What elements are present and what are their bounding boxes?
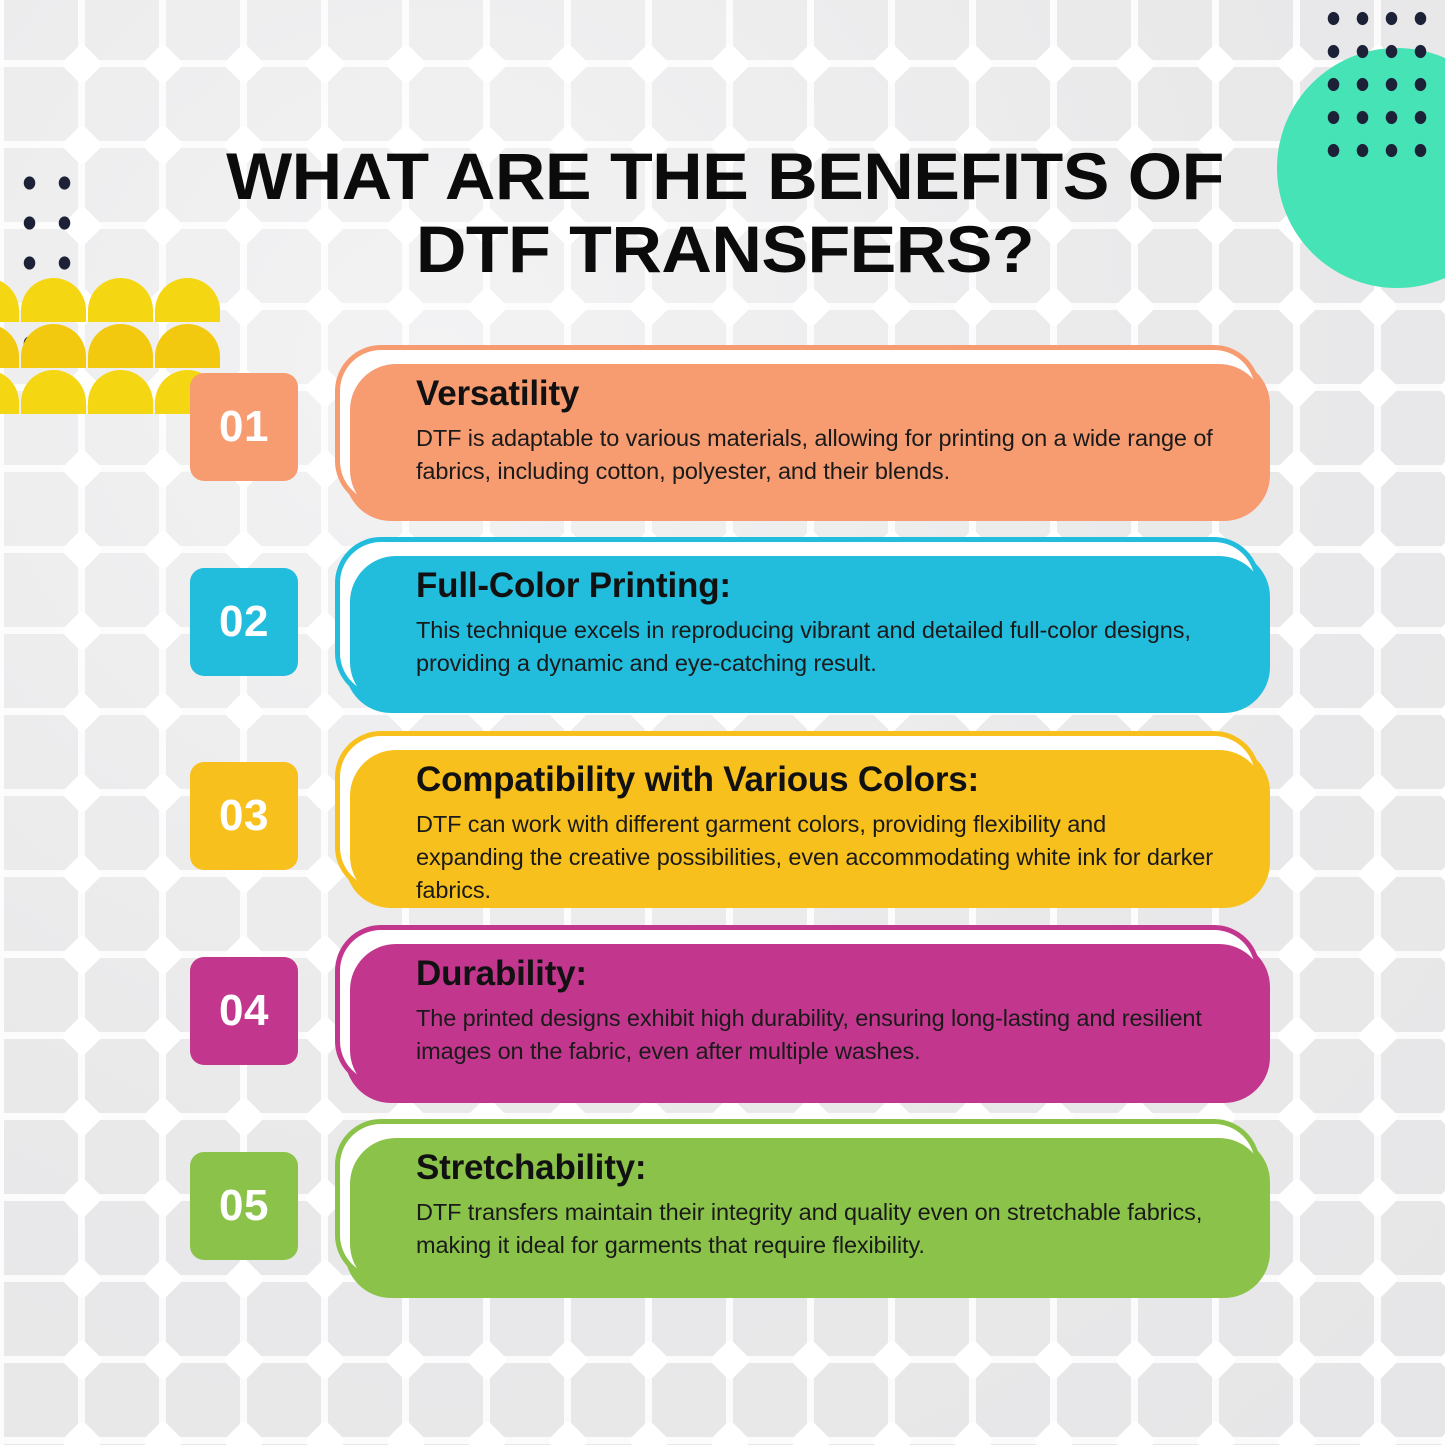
- grid-node-icon: [60, 1338, 102, 1380]
- grid-node-icon: [1437, 1338, 1445, 1380]
- grid-node-icon: [627, 42, 669, 84]
- benefit-row: 04Durability:The printed designs exhibit…: [0, 930, 1445, 1125]
- grid-node-icon: [1275, 1419, 1317, 1445]
- grid-node-icon: [384, 42, 426, 84]
- grid-node-icon: [708, 1419, 750, 1445]
- benefit-number: 02: [219, 597, 269, 647]
- grid-node-icon: [303, 285, 345, 327]
- benefit-heading: Versatility: [416, 372, 1215, 416]
- grid-node-icon: [627, 1338, 669, 1380]
- grid-node-icon: [870, 42, 912, 84]
- benefit-body: DTF is adaptable to various materials, a…: [416, 422, 1215, 488]
- grid-node-icon: [1113, 1338, 1155, 1380]
- grid-node-icon: [1032, 285, 1074, 327]
- grid-node-icon: [222, 285, 264, 327]
- grid-node-icon: [1194, 285, 1236, 327]
- benefit-card[interactable]: Compatibility with Various Colors:DTF ca…: [335, 731, 1260, 893]
- grid-node-icon: [1194, 1338, 1236, 1380]
- grid-node-icon: [546, 285, 588, 327]
- grid-node-icon: [303, 1338, 345, 1380]
- grid-node-icon: [1356, 1338, 1398, 1380]
- grid-node-icon: [60, 123, 102, 165]
- benefit-number-badge: 03: [190, 762, 298, 870]
- grid-node-icon: [870, 1419, 912, 1445]
- benefit-number-badge: 02: [190, 568, 298, 676]
- grid-node-icon: [141, 1338, 183, 1380]
- grid-node-icon: [789, 1338, 831, 1380]
- benefit-number-badge: 05: [190, 1152, 298, 1260]
- grid-node-icon: [465, 1419, 507, 1445]
- grid-node-icon: [384, 285, 426, 327]
- grid-node-icon: [60, 1419, 102, 1445]
- benefit-heading: Full-Color Printing:: [416, 564, 1215, 608]
- grid-node-icon: [951, 1419, 993, 1445]
- dot-grid-top-right-icon: [1319, 2, 1437, 172]
- benefit-row: 05Stretchability:DTF transfers maintain …: [0, 1125, 1445, 1320]
- grid-node-icon: [1437, 1419, 1445, 1445]
- benefit-row: 02Full-Color Printing:This technique exc…: [0, 540, 1445, 735]
- benefit-body: The printed designs exhibit high durabil…: [416, 1002, 1215, 1068]
- benefit-card[interactable]: Stretchability:DTF transfers maintain th…: [335, 1119, 1260, 1281]
- grid-node-icon: [546, 42, 588, 84]
- grid-node-icon: [546, 1338, 588, 1380]
- grid-node-icon: [870, 1338, 912, 1380]
- grid-node-icon: [303, 42, 345, 84]
- benefit-number: 03: [219, 791, 269, 841]
- grid-node-icon: [141, 1419, 183, 1445]
- benefit-heading: Durability:: [416, 952, 1215, 996]
- infographic-canvas: WHAT ARE THE BENEFITS OF DTF TRANSFERS? …: [0, 0, 1445, 1445]
- benefits-list: 01VersatilityDTF is adaptable to various…: [0, 345, 1445, 1320]
- benefit-card[interactable]: VersatilityDTF is adaptable to various m…: [335, 345, 1260, 507]
- grid-node-icon: [222, 1419, 264, 1445]
- grid-node-icon: [384, 1419, 426, 1445]
- benefit-body: DTF transfers maintain their integrity a…: [416, 1196, 1215, 1262]
- benefit-number-badge: 04: [190, 957, 298, 1065]
- benefit-body: This technique excels in reproducing vib…: [416, 614, 1215, 680]
- grid-node-icon: [1113, 42, 1155, 84]
- grid-node-icon: [789, 1419, 831, 1445]
- benefit-card[interactable]: Full-Color Printing:This technique excel…: [335, 537, 1260, 699]
- grid-node-icon: [951, 285, 993, 327]
- grid-node-icon: [1194, 1419, 1236, 1445]
- benefit-row: 03Compatibility with Various Colors:DTF …: [0, 735, 1445, 930]
- grid-node-icon: [1032, 1338, 1074, 1380]
- grid-node-icon: [222, 42, 264, 84]
- grid-node-icon: [1356, 285, 1398, 327]
- grid-node-icon: [708, 1338, 750, 1380]
- grid-node-icon: [1032, 1419, 1074, 1445]
- benefit-number: 05: [219, 1181, 269, 1231]
- grid-node-icon: [1032, 42, 1074, 84]
- grid-node-icon: [222, 1338, 264, 1380]
- grid-node-icon: [546, 1419, 588, 1445]
- benefit-row: 01VersatilityDTF is adaptable to various…: [0, 345, 1445, 540]
- grid-node-icon: [951, 42, 993, 84]
- grid-node-icon: [1113, 1419, 1155, 1445]
- grid-node-icon: [1356, 1419, 1398, 1445]
- grid-node-icon: [708, 285, 750, 327]
- grid-node-icon: [141, 42, 183, 84]
- grid-node-icon: [465, 1338, 507, 1380]
- grid-node-icon: [465, 285, 507, 327]
- benefit-number: 04: [219, 986, 269, 1036]
- grid-node-icon: [789, 42, 831, 84]
- grid-node-icon: [789, 285, 831, 327]
- grid-node-icon: [1275, 42, 1317, 84]
- grid-node-icon: [303, 1419, 345, 1445]
- benefit-number: 01: [219, 402, 269, 452]
- grid-node-icon: [870, 285, 912, 327]
- grid-node-icon: [60, 42, 102, 84]
- benefit-card[interactable]: Durability:The printed designs exhibit h…: [335, 925, 1260, 1087]
- benefit-heading: Stretchability:: [416, 1146, 1215, 1190]
- grid-node-icon: [1275, 1338, 1317, 1380]
- grid-node-icon: [1275, 285, 1317, 327]
- benefit-body: DTF can work with different garment colo…: [416, 808, 1215, 907]
- grid-node-icon: [1194, 42, 1236, 84]
- benefit-heading: Compatibility with Various Colors:: [416, 758, 1215, 802]
- grid-node-icon: [384, 1338, 426, 1380]
- grid-node-icon: [627, 285, 669, 327]
- grid-node-icon: [951, 1338, 993, 1380]
- grid-node-icon: [627, 1419, 669, 1445]
- grid-node-icon: [1113, 285, 1155, 327]
- grid-node-icon: [465, 42, 507, 84]
- grid-node-icon: [708, 42, 750, 84]
- grid-node-icon: [1437, 285, 1445, 327]
- page-title: WHAT ARE THE BENEFITS OF DTF TRANSFERS?: [169, 140, 1282, 286]
- benefit-number-badge: 01: [190, 373, 298, 481]
